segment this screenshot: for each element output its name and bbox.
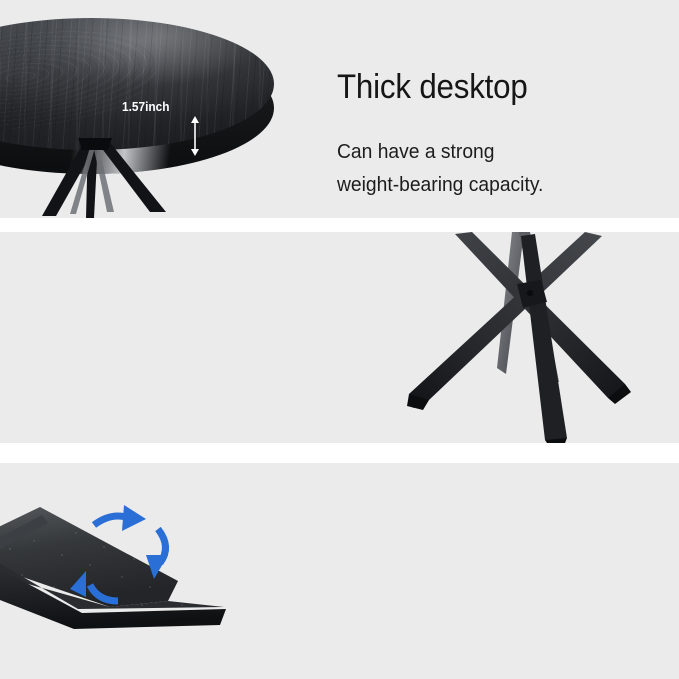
panel-1-body-line-2: weight-bearing capacity. (337, 168, 543, 201)
product-feature-infographic: 1.57inch Thick desktop Can have a strong… (0, 0, 679, 679)
panel-1-body: Can have a strong weight-bearing capacit… (337, 135, 543, 201)
feature-panel-stable-metal-legs: Stable metal legs Crossed metal legs mak… (0, 232, 679, 443)
double-arrow-vertical-icon (189, 116, 201, 156)
panel-1-text: Thick desktop Can have a strong weight-b… (337, 40, 557, 218)
feature-panel-adjustable-feet: Adjustable feet The feet are adjustable,… (0, 463, 679, 679)
crossed-metal-legs-image (399, 232, 679, 443)
panel-1-heading: Thick desktop (337, 68, 539, 106)
adjustable-foot-image (0, 489, 248, 637)
panel-1-body-line-1: Can have a strong (337, 135, 543, 168)
thickness-callout: 1.57inch (122, 100, 232, 162)
thickness-label: 1.57inch (122, 100, 170, 114)
feature-panel-thick-desktop: 1.57inch Thick desktop Can have a strong… (0, 0, 679, 218)
